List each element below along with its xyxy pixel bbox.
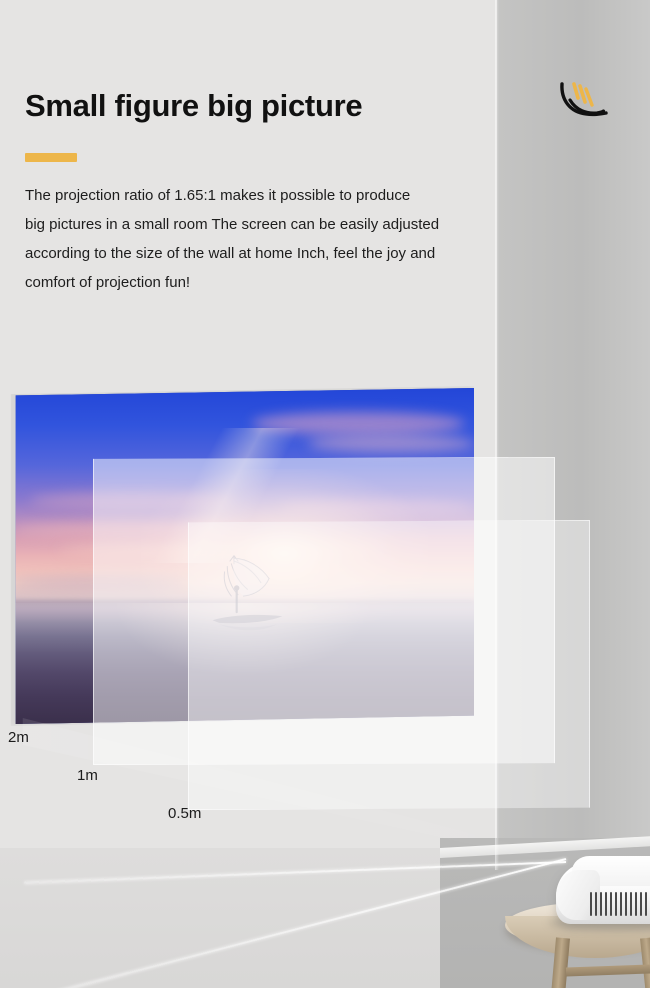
distance-label-0-5m: 0.5m (168, 805, 201, 822)
distance-label-2m: 2m (8, 729, 29, 746)
description-line-3: according to the size of the wall at hom… (25, 240, 565, 269)
wheat-leaf-logo-icon (556, 74, 614, 126)
description-line-4: comfort of projection fun! (25, 269, 565, 298)
accent-underline-bar (25, 153, 77, 162)
projector-device (556, 856, 650, 928)
description-line-2: big pictures in a small room The screen … (25, 211, 565, 240)
page-title: Small figure big picture (25, 88, 362, 124)
projection-plane-0-5m (188, 520, 590, 810)
product-feature-page: Small figure big picture The projection … (0, 0, 650, 988)
distance-label-1m: 1m (77, 767, 98, 784)
description-paragraph: The projection ratio of 1.65:1 makes it … (25, 182, 565, 298)
description-line-1: The projection ratio of 1.65:1 makes it … (25, 182, 565, 211)
projector-vent-grille (590, 892, 650, 916)
